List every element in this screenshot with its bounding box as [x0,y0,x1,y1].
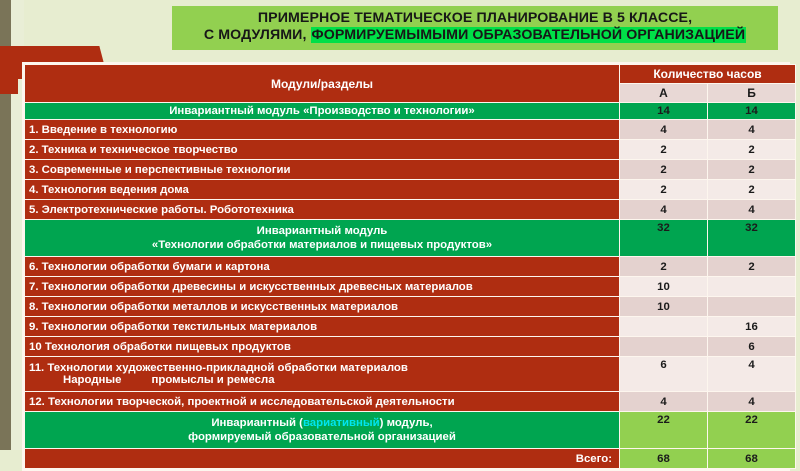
header-modules-label: Модули/разделы [25,65,619,102]
variative-prefix: Инвариантный ( [211,417,303,429]
row-label-12: 12. Технологии творческой, проектной и и… [25,392,619,411]
table-row: 8. Технологии обработки металлов и искус… [25,297,795,316]
table-body: Инвариантный модуль «Производство и техн… [25,103,795,468]
row-value-b [708,277,795,296]
row-value-b: 2 [708,140,795,159]
variative-cyan-word: вариативный [303,417,380,429]
row-label-module-2: Инвариантный модуль «Технологии обработк… [25,220,619,256]
row-11-line-2-a: Народные [63,374,122,386]
row-value-a: 10 [620,297,707,316]
row-value-b: 4 [708,200,795,219]
variative-suffix: ) модуль, [380,417,433,429]
row-label-module-1: Инвариантный модуль «Производство и техн… [25,103,619,119]
table-row: 5. Электротехнические работы. Робототехн… [25,200,795,219]
row-value-a: 2 [620,140,707,159]
title-highlighted-text: ФОРМИРУЕМЫМЫМИ ОБРАЗОВАТЕЛЬНОЙ ОРГАНИЗАЦ… [311,27,747,43]
row-value-b [708,297,795,316]
row-label-11: 11. Технологии художественно-прикладной … [25,357,619,391]
table-row: 12. Технологии творческой, проектной и и… [25,392,795,411]
row-value-a: 4 [620,392,707,411]
row-value-b: 22 [708,412,795,448]
table-head: Модули/разделы Количество часов А Б [25,65,795,102]
table-row: 9. Технологии обработки текстильных мате… [25,317,795,336]
row-value-a: 14 [620,103,707,119]
total-value-b: 68 [708,449,795,468]
total-label: Всего: [25,449,619,468]
table-row: 6. Технологии обработки бумаги и картона… [25,257,795,276]
header-col-b: Б [708,84,795,102]
table-row: 10 Технология обработки пищевых продукто… [25,337,795,356]
row-value-a: 6 [620,357,707,391]
table-row: 4. Технология ведения дома 2 2 [25,180,795,199]
table-row: 1. Введение в технологию 4 4 [25,120,795,139]
slide-title: ПРИМЕРНОЕ ТЕМАТИЧЕСКОЕ ПЛАНИРОВАНИЕ В 5 … [172,6,778,50]
header-hours-span-label: Количество часов [620,65,795,83]
row-label-1: 1. Введение в технологию [25,120,619,139]
module-2-line-2: «Технологии обработки материалов и пищев… [29,238,615,252]
row-label-10: 10 Технология обработки пищевых продукто… [25,337,619,356]
row-label-6: 6. Технологии обработки бумаги и картона [25,257,619,276]
row-value-b: 32 [708,220,795,256]
table-row: 11. Технологии художественно-прикладной … [25,357,795,391]
row-value-a [620,317,707,336]
planning-table-container: Модули/разделы Количество часов А Б Инва… [22,62,790,471]
title-line-2-prefix: С МОДУЛЯМИ, [204,27,311,43]
row-value-b: 4 [708,120,795,139]
variative-line-1: Инвариантный (вариативный) модуль, [29,416,615,430]
row-label-variative-module: Инвариантный (вариативный) модуль, форми… [25,412,619,448]
row-value-a [620,337,707,356]
variative-line-2: формируемый образовательной организацией [29,430,615,444]
row-value-a: 2 [620,160,707,179]
table-row: 3. Современные и перспективные технологи… [25,160,795,179]
row-value-b: 14 [708,103,795,119]
row-value-b: 4 [708,357,795,391]
row-value-a: 4 [620,120,707,139]
row-value-a: 4 [620,200,707,219]
row-label-3: 3. Современные и перспективные технологи… [25,160,619,179]
row-value-b: 2 [708,180,795,199]
row-11-line-2-b: промыслы и ремесла [152,374,275,386]
planning-table: Модули/разделы Количество часов А Б Инва… [24,64,796,469]
row-value-b: 2 [708,160,795,179]
table-header-row-1: Модули/разделы Количество часов [25,65,795,83]
row-value-b: 6 [708,337,795,356]
table-row: Инвариантный модуль «Технологии обработк… [25,220,795,256]
row-label-9: 9. Технологии обработки текстильных мате… [25,317,619,336]
row-value-a: 2 [620,257,707,276]
table-row: 2. Техника и техническое творчество 2 2 [25,140,795,159]
row-value-a: 10 [620,277,707,296]
table-row: Инвариантный (вариативный) модуль, форми… [25,412,795,448]
row-label-8: 8. Технологии обработки металлов и искус… [25,297,619,316]
row-label-7: 7. Технологии обработки древесины и иску… [25,277,619,296]
row-value-a: 2 [620,180,707,199]
title-line-2: С МОДУЛЯМИ, ФОРМИРУЕМЫМЫМИ ОБРАЗОВАТЕЛЬН… [178,27,772,44]
row-label-4: 4. Технология ведения дома [25,180,619,199]
row-label-2: 2. Техника и техническое творчество [25,140,619,159]
header-col-a: А [620,84,707,102]
module-2-line-1: Инвариантный модуль [29,224,615,238]
table-row: Инвариантный модуль «Производство и техн… [25,103,795,119]
title-line-1: ПРИМЕРНОЕ ТЕМАТИЧЕСКОЕ ПЛАНИРОВАНИЕ В 5 … [178,10,772,27]
row-value-b: 4 [708,392,795,411]
row-11-line-2: Народныепромыслы и ремесла [29,374,615,386]
row-value-b: 2 [708,257,795,276]
row-value-b: 16 [708,317,795,336]
row-label-5: 5. Электротехнические работы. Робототехн… [25,200,619,219]
slide-canvas: ПРИМЕРНОЕ ТЕМАТИЧЕСКОЕ ПЛАНИРОВАНИЕ В 5 … [0,0,800,450]
table-row: 7. Технологии обработки древесины и иску… [25,277,795,296]
row-value-a: 32 [620,220,707,256]
row-11-line-1: 11. Технологии художественно-прикладной … [29,362,615,374]
row-value-a: 22 [620,412,707,448]
total-value-a: 68 [620,449,707,468]
table-total-row: Всего: 68 68 [25,449,795,468]
